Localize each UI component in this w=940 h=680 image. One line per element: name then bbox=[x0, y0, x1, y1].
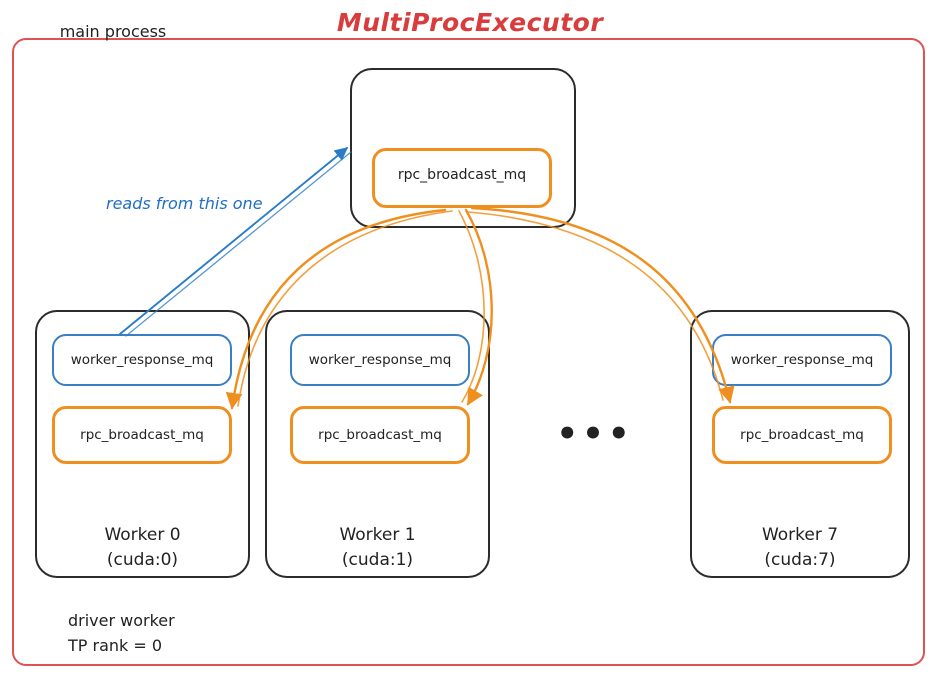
worker-7-rpc-broadcast-mq-label: rpc_broadcast_mq bbox=[712, 427, 892, 445]
worker-1-rpc-broadcast-mq-label: rpc_broadcast_mq bbox=[290, 427, 470, 445]
driver-worker-note: driver worker TP rank = 0 bbox=[68, 608, 175, 658]
worker-1-name-label: Worker 1 (cuda:1) bbox=[265, 523, 490, 573]
main-process-label: main process bbox=[0, 22, 226, 41]
diagram-canvas: MultiProcExecutor main process rpc_broad… bbox=[0, 0, 940, 680]
worker-0-worker-response-mq-label: worker_response_mq bbox=[52, 352, 232, 370]
workers-ellipsis: ••• bbox=[545, 414, 645, 454]
worker-0-rpc-broadcast-mq-label: rpc_broadcast_mq bbox=[52, 427, 232, 445]
main-process-rpc-broadcast-mq-label: rpc_broadcast_mq bbox=[372, 167, 552, 183]
worker-0-name-label: Worker 0 (cuda:0) bbox=[35, 523, 250, 573]
worker-1-worker-response-mq-label: worker_response_mq bbox=[290, 352, 470, 370]
worker-7-name-label: Worker 7 (cuda:7) bbox=[690, 523, 910, 573]
worker-7-worker-response-mq-label: worker_response_mq bbox=[712, 352, 892, 370]
reads-from-annotation-label: reads from this one bbox=[106, 194, 263, 213]
